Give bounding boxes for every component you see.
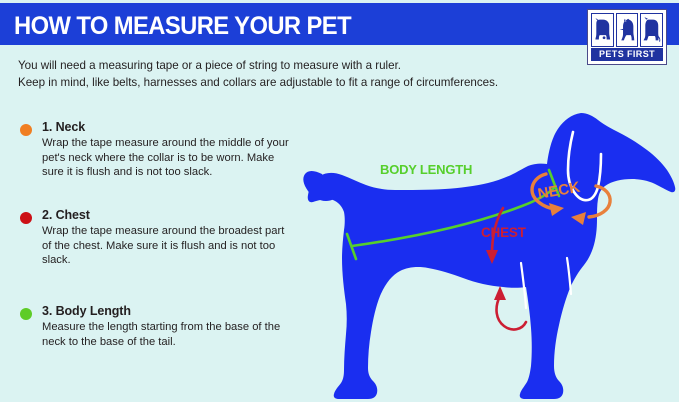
- how-to-measure-pet-infographic: HOW TO MEASURE YOUR PET: [0, 0, 679, 402]
- label-chest: CHEST: [481, 225, 526, 240]
- step-description: Measure the length starting from the bas…: [42, 320, 295, 349]
- header-bar: HOW TO MEASURE YOUR PET: [0, 3, 679, 45]
- intro-text: You will need a measuring tape or a piec…: [18, 57, 648, 91]
- dog-measurement-diagram: [300, 108, 679, 400]
- bullet-icon-neck: [20, 124, 32, 136]
- dog-silhouette-icon: [616, 13, 639, 47]
- step-title: 2. Chest: [42, 208, 295, 223]
- logo-icon-row: [591, 13, 663, 47]
- dog-silhouette-icon: [591, 13, 614, 47]
- measure-step-neck: 1. Neck Wrap the tape measure around the…: [20, 120, 295, 180]
- step-description: Wrap the tape measure around the middle …: [42, 136, 295, 180]
- step-title: 1. Neck: [42, 120, 295, 135]
- step-description: Wrap the tape measure around the broades…: [42, 224, 295, 268]
- measure-step-chest: 2. Chest Wrap the tape measure around th…: [20, 208, 295, 268]
- step-body: 2. Chest Wrap the tape measure around th…: [42, 208, 295, 268]
- bullet-icon-body-length: [20, 308, 32, 320]
- step-title: 3. Body Length: [42, 304, 295, 319]
- bullet-icon-chest: [20, 212, 32, 224]
- step-body: 3. Body Length Measure the length starti…: [42, 304, 295, 349]
- intro-line-1: You will need a measuring tape or a piec…: [18, 57, 648, 74]
- page-title: HOW TO MEASURE YOUR PET: [14, 12, 351, 41]
- chest-arrowhead-bottom: [494, 286, 506, 300]
- step-body: 1. Neck Wrap the tape measure around the…: [42, 120, 295, 180]
- measure-step-body-length: 3. Body Length Measure the length starti…: [20, 304, 295, 349]
- dog-silhouette-icon: [640, 13, 663, 47]
- intro-line-2: Keep in mind, like belts, harnesses and …: [18, 74, 648, 91]
- label-body-length: BODY LENGTH: [380, 162, 472, 177]
